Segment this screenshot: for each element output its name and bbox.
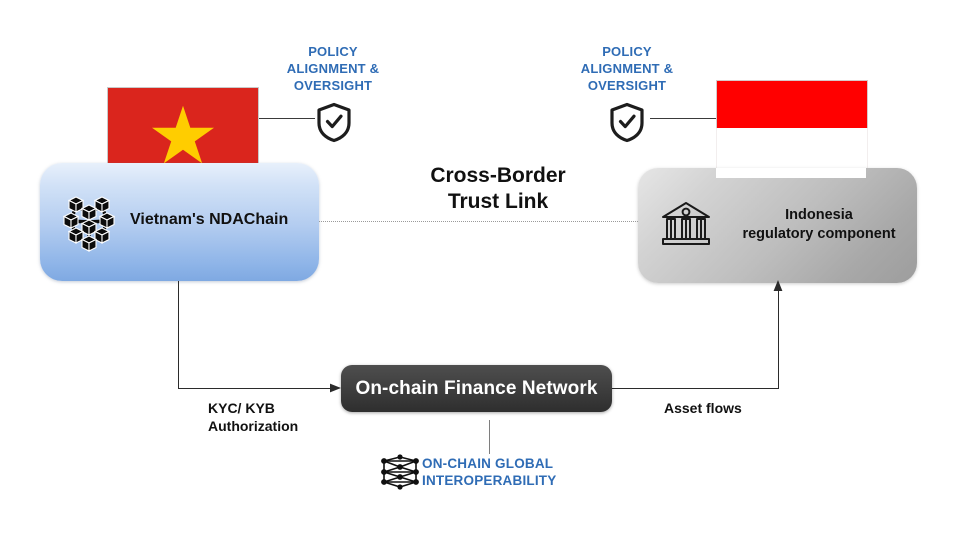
flow-left-arrowhead (328, 381, 342, 395)
indonesia-flag-red-band (716, 80, 868, 129)
node-indonesia-label-line2: regulatory component (730, 225, 908, 244)
policy-right-line1: POLICY (566, 43, 688, 60)
policy-left-line1: POLICY (272, 43, 394, 60)
vietnam-flag-star (152, 106, 214, 168)
node-onchain-finance-network[interactable]: On-chain Finance Network (341, 365, 612, 412)
node-vietnam-ndachain[interactable]: Vietnam's NDAChain (40, 163, 319, 281)
policy-alignment-right-label: POLICY ALIGNMENT & OVERSIGHT (566, 43, 688, 94)
flow-right-vertical-segment (778, 288, 779, 388)
flow-right-horizontal-segment (612, 388, 779, 389)
page-title: Cross-Border Trust Link (398, 163, 598, 215)
flow-kyc-kyb-line1: KYC/ KYB (208, 399, 298, 417)
node-indonesia-label: Indonesia regulatory component (730, 206, 908, 244)
flow-left-vertical-segment (178, 281, 179, 388)
policy-left-line3: OVERSIGHT (272, 77, 394, 94)
indonesia-flag-notch (716, 168, 866, 178)
shield-check-icon-right (609, 102, 645, 142)
flow-kyc-kyb-label: KYC/ KYB Authorization (208, 399, 298, 435)
interoperability-label: ON-CHAIN GLOBAL INTEROPERABILITY (422, 455, 556, 489)
policy-right-line2: ALIGNMENT & (566, 60, 688, 77)
interop-line1: ON-CHAIN GLOBAL (422, 455, 556, 472)
connector-shield-to-indonesia-flag (650, 118, 716, 119)
node-network-label: On-chain Finance Network (355, 378, 597, 400)
mesh-network-icon (379, 455, 421, 489)
blockchain-cubes-icon (58, 191, 120, 253)
flow-left-horizontal-segment (178, 388, 333, 389)
flow-asset-flows-label: Asset flows (664, 399, 742, 417)
policy-alignment-left-label: POLICY ALIGNMENT & OVERSIGHT (272, 43, 394, 94)
center-title-line1: Cross-Border (398, 163, 598, 189)
center-title-line2: Trust Link (398, 189, 598, 215)
connector-vietnam-flag-to-shield (258, 118, 315, 119)
cross-border-trust-link-connector (319, 221, 638, 222)
node-vietnam-label: Vietnam's NDAChain (130, 211, 288, 229)
flow-kyc-kyb-line2: Authorization (208, 417, 298, 435)
shield-check-icon (316, 102, 352, 142)
interop-line2: INTEROPERABILITY (422, 472, 556, 489)
node-indonesia-label-line1: Indonesia (730, 206, 908, 225)
bank-building-icon (660, 200, 712, 248)
node-indonesia-regulatory[interactable]: Indonesia regulatory component (638, 168, 917, 283)
interop-connector-line (489, 420, 490, 454)
policy-left-line2: ALIGNMENT & (272, 60, 394, 77)
policy-right-line3: OVERSIGHT (566, 77, 688, 94)
flow-right-arrowhead (771, 279, 785, 293)
diagram-canvas: POLICY ALIGNMENT & OVERSIGHT POLICY ALIG… (0, 0, 960, 540)
